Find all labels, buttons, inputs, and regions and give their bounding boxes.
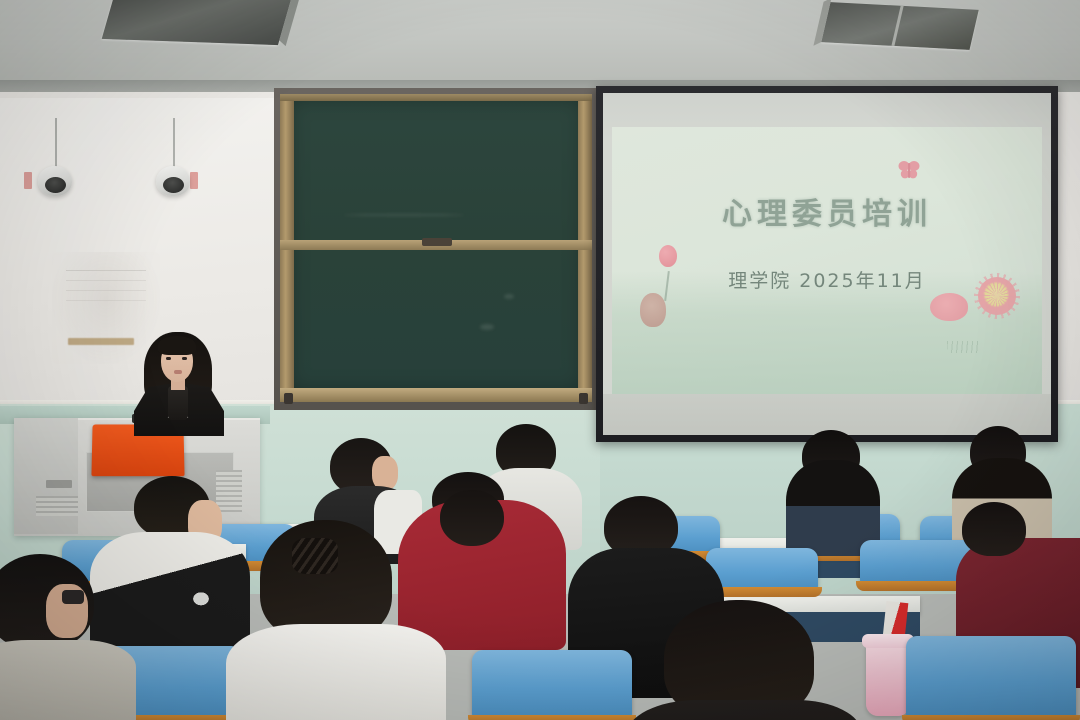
chair-front-center: [472, 650, 632, 720]
jacket-logo: [188, 588, 214, 606]
butterfly-icon: [896, 159, 922, 181]
hood-hair: [440, 490, 504, 546]
hedgehog-right-icon: [930, 293, 968, 321]
body: [226, 624, 446, 720]
blackboard-frame: [274, 88, 598, 410]
blackboard-chalk-tray: [280, 388, 592, 402]
speaker-tag-left: [24, 172, 32, 189]
projection-screen-frame: 心理委员培训 理学院 2025年11月: [596, 86, 1058, 442]
speaker-tag-right: [190, 172, 198, 189]
ceiling-vent-left-icon: [102, 0, 293, 45]
ear-face: [372, 456, 398, 490]
blackboard: [274, 88, 598, 410]
pink-drink-cup: [866, 640, 910, 716]
presenter: [134, 330, 224, 425]
body: [0, 640, 136, 720]
slide-subtitle: 理学院 2025年11月: [612, 266, 1042, 293]
wall-poster-banner: [68, 338, 134, 345]
presenter-fringe: [158, 336, 196, 355]
chalk-smudge: [504, 294, 514, 299]
hedgehog-left-icon: [640, 293, 666, 327]
balloon-icon: [659, 245, 677, 267]
body: [626, 700, 862, 720]
chair-front-right: [906, 636, 1076, 720]
presenter-eye-left: [166, 357, 171, 360]
ceiling-vent-right-icon: [821, 2, 978, 50]
blackboard-rail-top: [280, 94, 592, 101]
podium-vents-left: [36, 496, 78, 516]
body: [90, 532, 250, 662]
blackboard-knob-right: [579, 393, 588, 404]
speaker-cable-left: [55, 118, 57, 170]
classroom-photo: 心理委员培训 理学院 2025年11月: [0, 0, 1080, 720]
presenter-scarf: [168, 386, 188, 420]
presenter-mouth: [174, 370, 182, 374]
presenter-eye-right: [182, 357, 187, 360]
slide-title: 心理委员培训: [612, 189, 1042, 233]
head: [962, 502, 1026, 556]
ceiling-speaker-right: [156, 166, 190, 196]
chair-mid-center: [706, 548, 818, 592]
projection-screen-surface: 心理委员培训 理学院 2025年11月: [603, 93, 1051, 435]
blackboard-clip: [422, 238, 452, 246]
braid-detail: [292, 538, 338, 574]
speaker-dome-icon: [38, 166, 72, 196]
podium-vents-right: [216, 470, 242, 512]
ceiling-speaker-left: [38, 166, 72, 196]
grass-icon: [947, 341, 981, 353]
chalk-smudge: [480, 324, 494, 330]
speaker-dome-icon: [156, 166, 190, 196]
projection-screen: 心理委员培训 理学院 2025年11月: [596, 86, 1058, 442]
chalk-smudge: [344, 214, 464, 216]
podium-side-panel: [14, 418, 78, 534]
glasses-icon: [62, 590, 84, 604]
blackboard-knob-left: [284, 393, 293, 404]
speaker-cable-right: [173, 118, 175, 170]
podium-slot: [46, 480, 72, 488]
presentation-slide: 心理委员培训 理学院 2025年11月: [612, 127, 1042, 394]
